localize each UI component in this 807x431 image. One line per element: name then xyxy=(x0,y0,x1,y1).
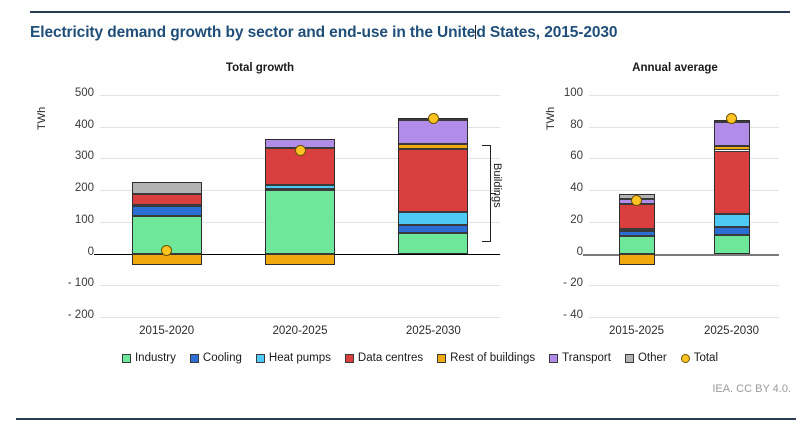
total-marker-dot[interactable] xyxy=(295,145,306,156)
gridline xyxy=(589,95,779,96)
bar-segment-industry[interactable] xyxy=(265,190,335,253)
legend-item-label: Total xyxy=(694,352,718,364)
gridline xyxy=(589,222,779,223)
buildings-bracket xyxy=(482,145,491,242)
bar-segment-industry[interactable] xyxy=(398,233,468,254)
legend-swatch-icon xyxy=(345,354,354,363)
gridline xyxy=(589,317,779,318)
x-axis-tick-label: 2015-2025 xyxy=(582,325,692,337)
buildings-bracket-label: Buildings xyxy=(491,163,503,208)
bar-segment-cooling[interactable] xyxy=(265,189,335,191)
legend-item-other[interactable]: Other xyxy=(625,352,667,364)
legend-item-transport[interactable]: Transport xyxy=(549,352,611,364)
gridline xyxy=(589,127,779,128)
bar-segment-industry[interactable] xyxy=(619,236,655,253)
bar-segment-cooling[interactable] xyxy=(714,227,750,235)
legend-item-label: Other xyxy=(638,352,667,364)
y-axis-tick-label: 300 xyxy=(42,150,94,162)
y-axis-tick-label: - 100 xyxy=(42,277,94,289)
legend-item-label: Transport xyxy=(562,352,611,364)
bar-segment-cooling[interactable] xyxy=(132,206,202,216)
legend-swatch-icon xyxy=(190,354,199,363)
bar-segment-rest-of-buildings[interactable] xyxy=(398,144,468,149)
legend-item-label: Rest of buildings xyxy=(450,352,535,364)
gridline xyxy=(100,95,500,96)
x-axis-tick-label: 2015-2020 xyxy=(112,325,222,337)
legend-item-cooling[interactable]: Cooling xyxy=(190,352,242,364)
total-marker-dot[interactable] xyxy=(631,195,642,206)
legend-item-total[interactable]: Total xyxy=(681,352,718,364)
gridline xyxy=(100,317,500,318)
legend-swatch-icon xyxy=(437,354,446,363)
bar-segment-industry[interactable] xyxy=(714,235,750,254)
bottom-divider xyxy=(16,418,796,420)
panel-title-total-growth: Total growth xyxy=(160,62,360,74)
gridline xyxy=(589,285,779,286)
legend-swatch-icon xyxy=(256,354,265,363)
legend-item-data_centres[interactable]: Data centres xyxy=(345,352,423,364)
zero-axis-line xyxy=(583,254,779,256)
page-title-text-b: d States, 2015-2030 xyxy=(476,24,617,41)
bar-segment-transport[interactable] xyxy=(714,122,750,146)
legend-swatch-icon xyxy=(681,354,690,363)
bar-segment-heat-pumps[interactable] xyxy=(714,214,750,227)
chart-plot-annual-average xyxy=(585,95,780,317)
bar-segment-heat-pumps[interactable] xyxy=(132,205,202,207)
gridline xyxy=(589,158,779,159)
y-axis-tick-label: 100 xyxy=(42,214,94,226)
bar-segment-data-centres[interactable] xyxy=(714,151,750,214)
y-axis-tick-label: 40 xyxy=(531,182,583,194)
y-axis-tick-label: 0 xyxy=(531,246,583,258)
legend-item-label: Cooling xyxy=(203,352,242,364)
x-axis-tick-label: 2020-2025 xyxy=(245,325,355,337)
y-axis-tick-label: 500 xyxy=(42,87,94,99)
bar-segment-heat-pumps[interactable] xyxy=(265,185,335,189)
bar-segment-cooling[interactable] xyxy=(619,231,655,236)
gridline xyxy=(100,285,500,286)
panel-title-annual-average: Annual average xyxy=(585,62,765,74)
bar-segment-data-centres[interactable] xyxy=(132,194,202,205)
credit-text: IEA. CC BY 4.0. xyxy=(712,383,791,395)
x-axis-tick-label: 2025-2030 xyxy=(677,325,787,337)
y-axis-tick-label: - 200 xyxy=(42,309,94,321)
legend-item-label: Industry xyxy=(135,352,176,364)
gridline xyxy=(589,190,779,191)
total-marker-dot[interactable] xyxy=(161,245,172,256)
bar-segment-cooling[interactable] xyxy=(398,225,468,233)
x-axis-tick-label: 2025-2030 xyxy=(378,325,488,337)
bar-segment-data-centres[interactable] xyxy=(398,149,468,212)
bar-segment-data-centres[interactable] xyxy=(619,204,655,229)
y-axis-tick-label: 200 xyxy=(42,182,94,194)
legend-swatch-icon xyxy=(625,354,634,363)
legend-swatch-icon xyxy=(122,354,131,363)
top-divider xyxy=(30,11,790,13)
y-axis-tick-label: - 40 xyxy=(531,309,583,321)
legend-item-rest_of_buildings[interactable]: Rest of buildings xyxy=(437,352,535,364)
y-axis-tick-label: 400 xyxy=(42,119,94,131)
bar-segment-heat-pumps[interactable] xyxy=(619,229,655,231)
bar-segment-other[interactable] xyxy=(132,182,202,195)
bar-segment-rest-of-buildings[interactable] xyxy=(714,146,750,151)
y-axis-tick-label: 0 xyxy=(42,246,94,258)
bar-segment-rest-of-buildings[interactable] xyxy=(619,254,655,265)
bar-segment-heat-pumps[interactable] xyxy=(398,212,468,225)
y-axis-tick-label: 20 xyxy=(531,214,583,226)
y-axis-tick-label: - 20 xyxy=(531,277,583,289)
legend-item-heat_pumps[interactable]: Heat pumps xyxy=(256,352,331,364)
page-title-text-a: Electricity demand growth by sector and … xyxy=(30,24,475,41)
y-axis-tick-label: 60 xyxy=(531,150,583,162)
chart-legend: IndustryCoolingHeat pumpsData centresRes… xyxy=(60,352,780,364)
page-title: Electricity demand growth by sector and … xyxy=(30,24,770,42)
legend-swatch-icon xyxy=(549,354,558,363)
legend-item-industry[interactable]: Industry xyxy=(122,352,176,364)
y-axis-tick-label: 80 xyxy=(531,119,583,131)
bar-segment-rest-of-buildings[interactable] xyxy=(265,254,335,265)
legend-item-label: Heat pumps xyxy=(269,352,331,364)
legend-item-label: Data centres xyxy=(358,352,423,364)
y-axis-tick-label: 100 xyxy=(531,87,583,99)
